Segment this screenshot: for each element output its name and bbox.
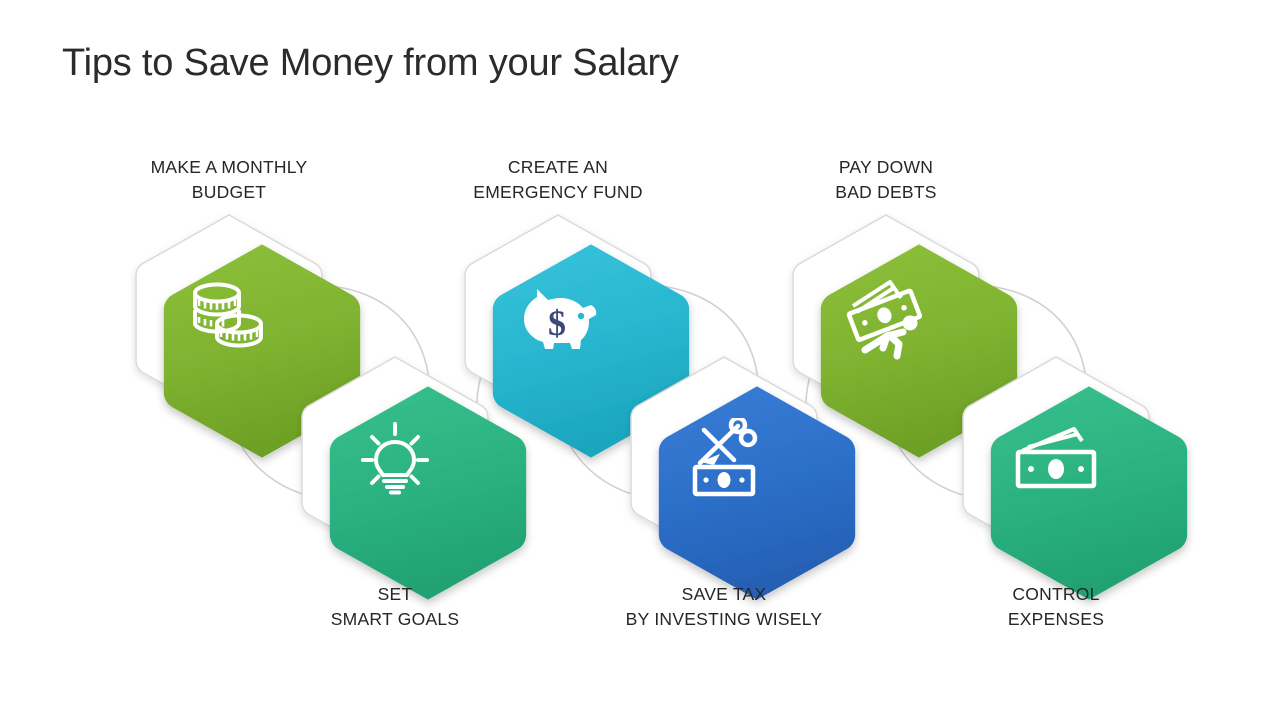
step-caption-save-tax-by-investing-wisely: SAVE TAX BY INVESTING WISELY (559, 582, 889, 632)
step-caption-set-smart-goals: SET SMART GOALS (230, 582, 560, 632)
caption-line-2: EMERGENCY FUND (393, 180, 723, 205)
step-caption-pay-down-bad-debts: PAY DOWN BAD DEBTS (721, 155, 1051, 205)
caption-line-2: EXPENSES (891, 607, 1221, 632)
banknote-stack-icon (974, 378, 1138, 542)
step-caption-create-an-emergency-fund: CREATE AN EMERGENCY FUND (393, 155, 723, 205)
caption-line-1: CONTROL (891, 582, 1221, 607)
caption-line-1: MAKE A MONTHLY (64, 155, 394, 180)
infographic-slide: Tips to Save Money from your Salary (0, 0, 1280, 720)
caption-line-2: BY INVESTING WISELY (559, 607, 889, 632)
caption-line-1: SET (230, 582, 560, 607)
caption-line-2: SMART GOALS (230, 607, 560, 632)
caption-line-2: BUDGET (64, 180, 394, 205)
caption-line-1: SAVE TAX (559, 582, 889, 607)
caption-line-2: BAD DEBTS (721, 180, 1051, 205)
caption-line-1: CREATE AN (393, 155, 723, 180)
caption-line-1: PAY DOWN (721, 155, 1051, 180)
page-title: Tips to Save Money from your Salary (62, 42, 679, 85)
step-node-control-expenses[interactable] (941, 345, 1171, 575)
step-caption-control-expenses: CONTROL EXPENSES (891, 582, 1221, 632)
step-caption-make-a-monthly-budget: MAKE A MONTHLY BUDGET (64, 155, 394, 205)
svg-text:$: $ (548, 303, 566, 343)
